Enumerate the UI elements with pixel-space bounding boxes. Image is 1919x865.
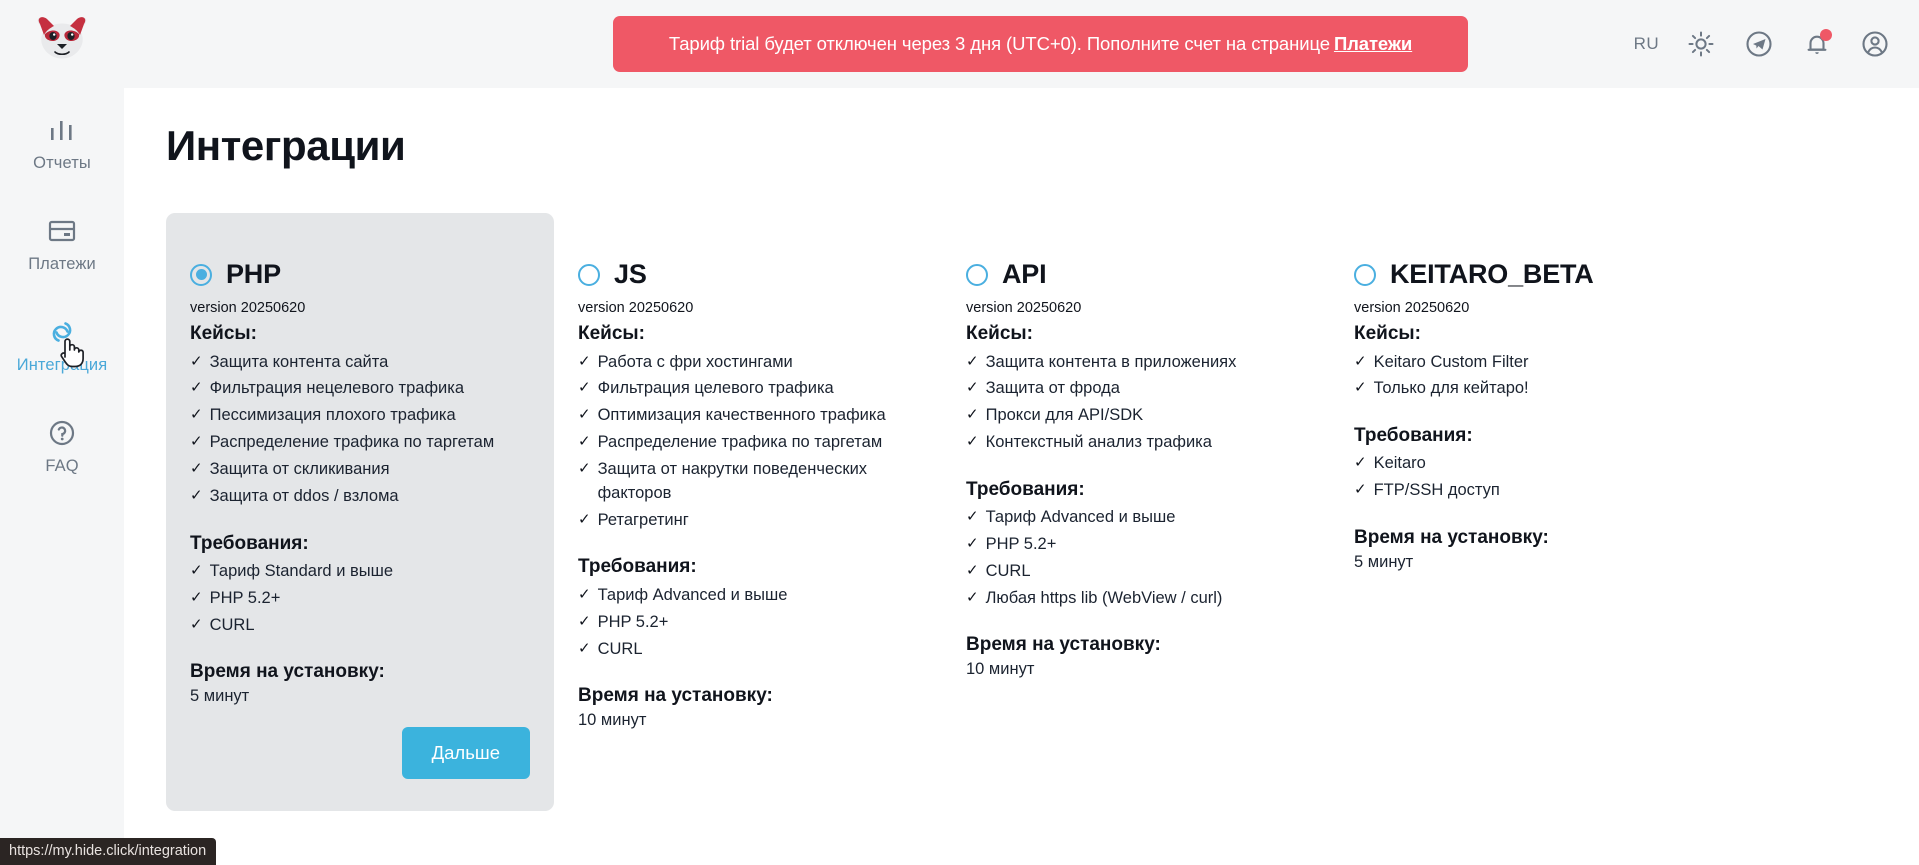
next-button[interactable]: Дальше <box>402 727 530 779</box>
check-icon: ✓ <box>966 351 979 373</box>
status-bar-url: https://my.hide.click/integration <box>0 838 216 865</box>
sidebar-item-faq[interactable]: FAQ <box>0 403 124 488</box>
check-icon: ✓ <box>190 614 203 636</box>
list-item: ✓Защита от накрутки поведенческих фактор… <box>578 457 918 508</box>
install-time-value: 10 минут <box>966 660 1306 679</box>
check-icon: ✓ <box>578 458 591 480</box>
list-item: ✓Keitaro <box>1354 451 1694 478</box>
card-header: KEITARO_BETA <box>1354 259 1694 290</box>
install-time-heading: Время на установку: <box>1354 527 1694 549</box>
list-item-label: Оптимизация качественного трафика <box>598 404 886 428</box>
check-icon: ✓ <box>190 458 203 480</box>
list-item-label: Ретагретинг <box>598 509 689 533</box>
check-icon: ✓ <box>578 431 591 453</box>
cases-list: ✓Keitaro Custom Filter ✓Только для кейта… <box>1354 349 1694 403</box>
header-actions: RU <box>1634 0 1891 88</box>
list-item-label: Фильтрация нецелевого трафика <box>210 377 464 401</box>
language-switcher[interactable]: RU <box>1634 34 1659 54</box>
check-icon: ✓ <box>190 404 203 426</box>
card-version: version 20250620 <box>966 300 1306 316</box>
list-item: ✓Keitaro Custom Filter <box>1354 349 1694 376</box>
radio-button-api[interactable] <box>966 264 988 286</box>
card-title: PHP <box>226 259 281 290</box>
check-icon: ✓ <box>966 377 979 399</box>
check-icon: ✓ <box>578 611 591 633</box>
integration-card-php[interactable]: PHP version 20250620 Кейсы: ✓Защита конт… <box>166 213 554 811</box>
list-item-label: Работа с фри хостингами <box>598 351 793 375</box>
list-item-label: Тариф Standard и выше <box>210 560 393 584</box>
list-item-label: Keitaro <box>1374 452 1426 476</box>
check-icon: ✓ <box>966 533 979 555</box>
check-icon: ✓ <box>578 377 591 399</box>
list-item: ✓Тариф Advanced и выше <box>578 582 918 609</box>
cases-heading: Кейсы: <box>966 323 1306 345</box>
account-circle-icon[interactable] <box>1859 28 1891 60</box>
list-item-label: PHP 5.2+ <box>598 611 669 635</box>
list-item-label: PHP 5.2+ <box>210 587 281 611</box>
list-item: ✓Только для кейтаро! <box>1354 376 1694 403</box>
page-title: Интеграции <box>166 122 1919 170</box>
card-header: JS <box>578 259 918 290</box>
list-item-label: Распределение трафика по таргетам <box>210 431 495 455</box>
alert-payments-link[interactable]: Платежи <box>1334 33 1412 55</box>
list-item: ✓PHP 5.2+ <box>190 585 530 612</box>
list-item: ✓Ретагретинг <box>578 508 918 535</box>
cases-list: ✓Защита контента сайта ✓Фильтрация нецел… <box>190 349 530 511</box>
list-item-label: Защита от фрода <box>986 377 1120 401</box>
app-root: Отчеты Платежи <box>0 0 1919 865</box>
cases-heading: Кейсы: <box>1354 323 1694 345</box>
trial-alert-banner[interactable]: Тариф trial будет отключен через 3 дня (… <box>613 16 1468 72</box>
install-time-heading: Время на установку: <box>966 634 1306 656</box>
requirements-heading: Требования: <box>578 556 918 578</box>
requirements-heading: Требования: <box>966 479 1306 501</box>
list-item: ✓Оптимизация качественного трафика <box>578 403 918 430</box>
requirements-list: ✓Keitaro ✓FTP/SSH доступ <box>1354 451 1694 505</box>
cases-heading: Кейсы: <box>578 323 918 345</box>
list-item-label: FTP/SSH доступ <box>1374 479 1500 503</box>
check-icon: ✓ <box>190 560 203 582</box>
cases-heading: Кейсы: <box>190 323 530 345</box>
list-item-label: Любая https lib (WebView / curl) <box>986 587 1223 611</box>
requirements-list: ✓Тариф Advanced и выше ✓PHP 5.2+ ✓CURL <box>578 582 918 663</box>
card-header: PHP <box>190 259 530 290</box>
alert-text: Тариф trial будет отключен через 3 дня (… <box>669 33 1330 55</box>
card-version: version 20250620 <box>190 300 530 316</box>
check-icon: ✓ <box>190 587 203 609</box>
integration-cards-row: PHP version 20250620 Кейсы: ✓Защита конт… <box>166 213 1919 811</box>
check-icon: ✓ <box>190 351 203 373</box>
install-time-value: 10 минут <box>578 711 918 730</box>
install-time-heading: Время на установку: <box>578 685 918 707</box>
check-icon: ✓ <box>1354 377 1367 399</box>
check-icon: ✓ <box>578 584 591 606</box>
card-header: API <box>966 259 1306 290</box>
sidebar-item-label: Платежи <box>28 255 96 274</box>
check-icon: ✓ <box>966 587 979 609</box>
sidebar-item-reports[interactable]: Отчеты <box>0 100 124 185</box>
bell-icon[interactable] <box>1801 28 1833 60</box>
check-icon: ✓ <box>966 560 979 582</box>
list-item-label: Пессимизация плохого трафика <box>210 404 456 428</box>
list-item-label: CURL <box>210 614 255 638</box>
list-item: ✓CURL <box>190 612 530 639</box>
list-item-label: Контекстный анализ трафика <box>986 431 1212 455</box>
check-icon: ✓ <box>1354 351 1367 373</box>
install-time-value: 5 минут <box>1354 553 1694 572</box>
telegram-icon[interactable] <box>1743 28 1775 60</box>
requirements-list: ✓Тариф Standard и выше ✓PHP 5.2+ ✓CURL <box>190 559 530 640</box>
integration-card-js[interactable]: JS version 20250620 Кейсы: ✓Работа с фри… <box>554 213 942 811</box>
integration-card-api[interactable]: API version 20250620 Кейсы: ✓Защита конт… <box>942 213 1330 811</box>
list-item: ✓Тариф Advanced и выше <box>966 505 1306 532</box>
list-item-label: Защита контента сайта <box>210 351 389 375</box>
card-title: API <box>1002 259 1046 290</box>
requirements-list: ✓Тариф Advanced и выше ✓PHP 5.2+ ✓CURL ✓… <box>966 505 1306 613</box>
check-icon: ✓ <box>966 404 979 426</box>
list-item: ✓Фильтрация нецелевого трафика <box>190 376 530 403</box>
sidebar-item-label: Отчеты <box>33 154 91 173</box>
list-item-label: Тариф Advanced и выше <box>986 506 1176 530</box>
raccoon-logo[interactable] <box>26 10 98 68</box>
list-item: ✓Контекстный анализ трафика <box>966 430 1306 457</box>
list-item-label: Тариф Advanced и выше <box>598 584 788 608</box>
sidebar-item-label: FAQ <box>45 457 78 476</box>
list-item-label: Защита от скликивания <box>210 458 390 482</box>
list-item: ✓CURL <box>966 559 1306 586</box>
list-item-label: Только для кейтаро! <box>1374 377 1529 401</box>
sidebar-nav: Отчеты Платежи <box>0 100 124 504</box>
main-content: Интеграции PHP version 20250620 Кейсы: ✓… <box>124 88 1919 865</box>
list-item: ✓CURL <box>578 636 918 663</box>
list-item: ✓Защита контента сайта <box>190 349 530 376</box>
list-item: ✓Распределение трафика по таргетам <box>190 430 530 457</box>
list-item: ✓Прокси для API/SDK <box>966 403 1306 430</box>
top-header: Тариф trial будет отключен через 3 дня (… <box>124 0 1919 88</box>
radio-button-keitaro-beta[interactable] <box>1354 264 1376 286</box>
sidebar-item-label: Интеграция <box>17 356 108 375</box>
list-item-label: Прокси для API/SDK <box>986 404 1144 428</box>
list-item-label: Keitaro Custom Filter <box>1374 351 1529 375</box>
list-item-label: Защита от ddos / взлома <box>210 485 399 509</box>
check-icon: ✓ <box>578 351 591 373</box>
list-item: ✓Фильтрация целевого трафика <box>578 376 918 403</box>
notification-badge <box>1820 29 1832 41</box>
bar-chart-icon <box>45 113 79 147</box>
list-item: ✓Защита контента в приложениях <box>966 349 1306 376</box>
card-title: JS <box>614 259 647 290</box>
card-version: version 20250620 <box>1354 300 1694 316</box>
check-icon: ✓ <box>190 485 203 507</box>
list-item-label: Фильтрация целевого трафика <box>598 377 834 401</box>
list-item-label: CURL <box>986 560 1031 584</box>
list-item: ✓Распределение трафика по таргетам <box>578 430 918 457</box>
question-circle-icon <box>45 416 79 450</box>
check-icon: ✓ <box>966 506 979 528</box>
sun-icon[interactable] <box>1685 28 1717 60</box>
list-item-label: Защита от накрутки поведенческих факторо… <box>598 458 918 506</box>
integration-card-keitaro-beta[interactable]: KEITARO_BETA version 20250620 Кейсы: ✓Ke… <box>1330 213 1718 811</box>
card-version: version 20250620 <box>578 300 918 316</box>
check-icon: ✓ <box>578 638 591 660</box>
list-item: ✓Любая https lib (WebView / curl) <box>966 585 1306 612</box>
check-icon: ✓ <box>966 431 979 453</box>
list-item: ✓Работа с фри хостингами <box>578 349 918 376</box>
check-icon: ✓ <box>578 404 591 426</box>
list-item: ✓Защита от скликивания <box>190 457 530 484</box>
cases-list: ✓Защита контента в приложениях ✓Защита о… <box>966 349 1306 457</box>
list-item: ✓PHP 5.2+ <box>578 609 918 636</box>
sidebar-item-integration[interactable]: Интеграция <box>0 302 124 387</box>
list-item: ✓PHP 5.2+ <box>966 532 1306 559</box>
requirements-heading: Требования: <box>190 533 530 555</box>
cases-list: ✓Работа с фри хостингами ✓Фильтрация цел… <box>578 349 918 534</box>
requirements-heading: Требования: <box>1354 425 1694 447</box>
list-item-label: Защита контента в приложениях <box>986 351 1237 375</box>
list-item: ✓Пессимизация плохого трафика <box>190 403 530 430</box>
card-title: KEITARO_BETA <box>1390 259 1594 290</box>
link-icon <box>45 315 79 349</box>
check-icon: ✓ <box>190 377 203 399</box>
check-icon: ✓ <box>1354 452 1367 474</box>
credit-card-icon <box>45 214 79 248</box>
check-icon: ✓ <box>578 509 591 531</box>
check-icon: ✓ <box>1354 479 1367 501</box>
list-item-label: PHP 5.2+ <box>986 533 1057 557</box>
list-item: ✓FTP/SSH доступ <box>1354 478 1694 505</box>
radio-button-js[interactable] <box>578 264 600 286</box>
list-item: ✓Защита от фрода <box>966 376 1306 403</box>
list-item: ✓Тариф Standard и выше <box>190 559 530 586</box>
list-item: ✓Защита от ddos / взлома <box>190 484 530 511</box>
radio-button-php[interactable] <box>190 264 212 286</box>
list-item-label: CURL <box>598 638 643 662</box>
install-time-value: 5 минут <box>190 687 530 706</box>
check-icon: ✓ <box>190 431 203 453</box>
sidebar-item-payments[interactable]: Платежи <box>0 201 124 286</box>
list-item-label: Распределение трафика по таргетам <box>598 431 883 455</box>
install-time-heading: Время на установку: <box>190 661 530 683</box>
sidebar: Отчеты Платежи <box>0 0 124 865</box>
